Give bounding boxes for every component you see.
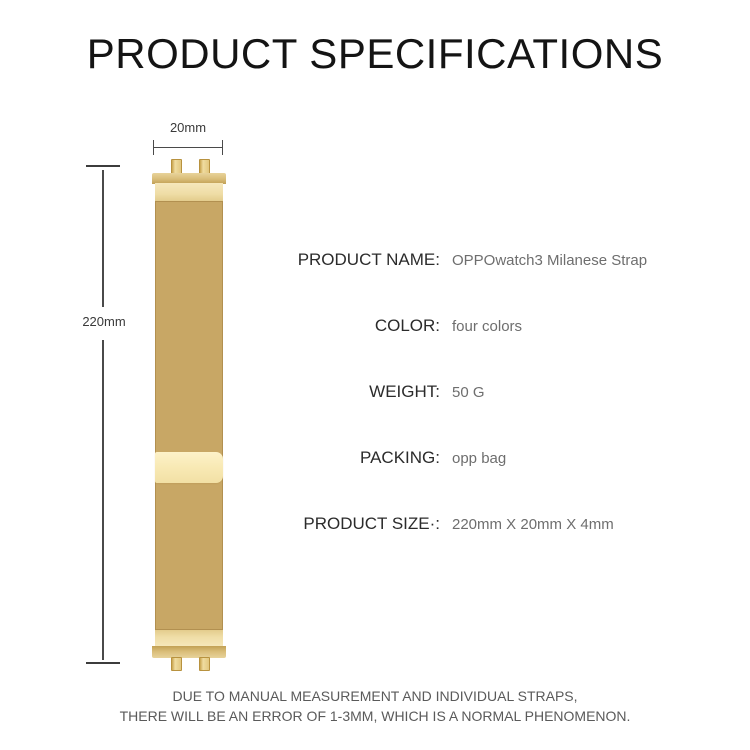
disclaimer-line-1: DUE TO MANUAL MEASUREMENT AND INDIVIDUAL…	[0, 686, 750, 706]
spec-value: 220mm X 20mm X 4mm	[440, 516, 702, 533]
width-dimension-tick-right	[222, 140, 223, 155]
spec-value: four colors	[440, 318, 702, 335]
bottom-lug-left	[171, 657, 182, 671]
watch-strap-image	[150, 155, 228, 675]
length-dimension-cap-top	[86, 165, 120, 167]
length-dimension-cap-bottom	[86, 662, 120, 664]
top-connector-plate	[155, 183, 223, 201]
spec-label: PACKING:	[282, 448, 440, 468]
spec-row-color: COLOR: four colors	[282, 316, 702, 382]
spec-row-product-size: PRODUCT SIZE·: 220mm X 20mm X 4mm	[282, 514, 702, 580]
top-lug-left	[171, 159, 182, 174]
spec-value: 50 G	[440, 384, 702, 401]
width-dimension-line	[153, 147, 223, 148]
spec-label: WEIGHT:	[282, 382, 440, 402]
length-dimension-label: 220mm	[46, 314, 162, 329]
spec-label: PRODUCT SIZE·:	[282, 514, 440, 534]
length-dimension-line-lower	[102, 340, 104, 660]
spec-row-weight: WEIGHT: 50 G	[282, 382, 702, 448]
magnetic-clasp	[155, 452, 223, 483]
disclaimer: DUE TO MANUAL MEASUREMENT AND INDIVIDUAL…	[0, 686, 750, 726]
spec-label: PRODUCT NAME:	[282, 250, 440, 270]
spec-value: OPPOwatch3 Milanese Strap	[440, 252, 702, 269]
length-dimension-line-upper	[102, 170, 104, 307]
page-title: PRODUCT SPECIFICATIONS	[0, 30, 750, 78]
spec-label: COLOR:	[282, 316, 440, 336]
specification-list: PRODUCT NAME: OPPOwatch3 Milanese Strap …	[282, 250, 702, 580]
bottom-connector-plate	[155, 630, 223, 647]
disclaimer-line-2: THERE WILL BE AN ERROR OF 1-3MM, WHICH I…	[0, 706, 750, 726]
width-dimension-label: 20mm	[153, 120, 223, 135]
mesh-band	[155, 201, 223, 630]
bottom-lug-right	[199, 657, 210, 671]
spec-row-product-name: PRODUCT NAME: OPPOwatch3 Milanese Strap	[282, 250, 702, 316]
spec-row-packing: PACKING: opp bag	[282, 448, 702, 514]
top-lug-right	[199, 159, 210, 174]
bottom-connector-bar	[152, 646, 226, 658]
width-dimension-tick-left	[153, 140, 154, 155]
spec-value: opp bag	[440, 450, 702, 467]
